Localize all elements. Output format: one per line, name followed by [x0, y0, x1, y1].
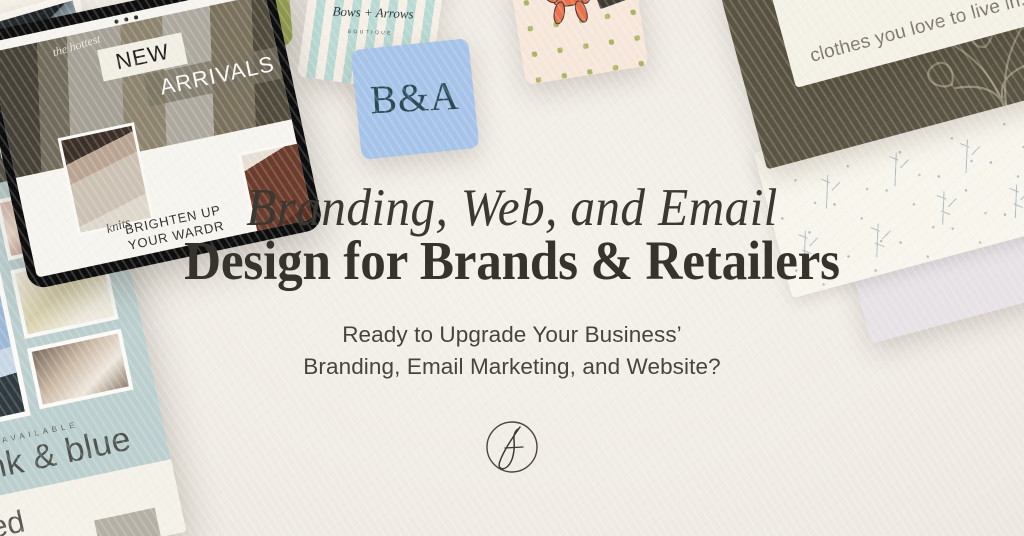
ba-monogram: B&A: [353, 39, 477, 155]
bows-arrows-logo: Bows + Arrows: [306, 3, 439, 24]
circle-script-monogram-icon: [479, 414, 545, 480]
email-footer-text: tocked: [0, 504, 28, 536]
hero-text-block: Branding, Web, and Email Design for Bran…: [0, 181, 1024, 480]
subheadline-line-2: Branding, Email Marketing, and Website?: [0, 351, 1024, 383]
business-card-x-pattern: [507, 0, 648, 85]
subheadline: Ready to Upgrade Your Business’ Branding…: [0, 319, 1024, 383]
bows-arrows-sublabel: BOUTIQUE: [304, 27, 437, 38]
hero-banner: Bows + Arrows BOUTIQUE B&A: [0, 0, 1024, 536]
headline-line-2: Design for Brands & Retailers: [36, 232, 988, 289]
subheadline-line-1: Ready to Upgrade Your Business’: [0, 319, 1024, 351]
business-card-blue-monogram: B&A: [351, 38, 480, 160]
brand-logo: [0, 414, 1024, 480]
headline-line-1: Branding, Web, and Email: [36, 181, 988, 235]
email-footer-chip: [94, 508, 162, 536]
